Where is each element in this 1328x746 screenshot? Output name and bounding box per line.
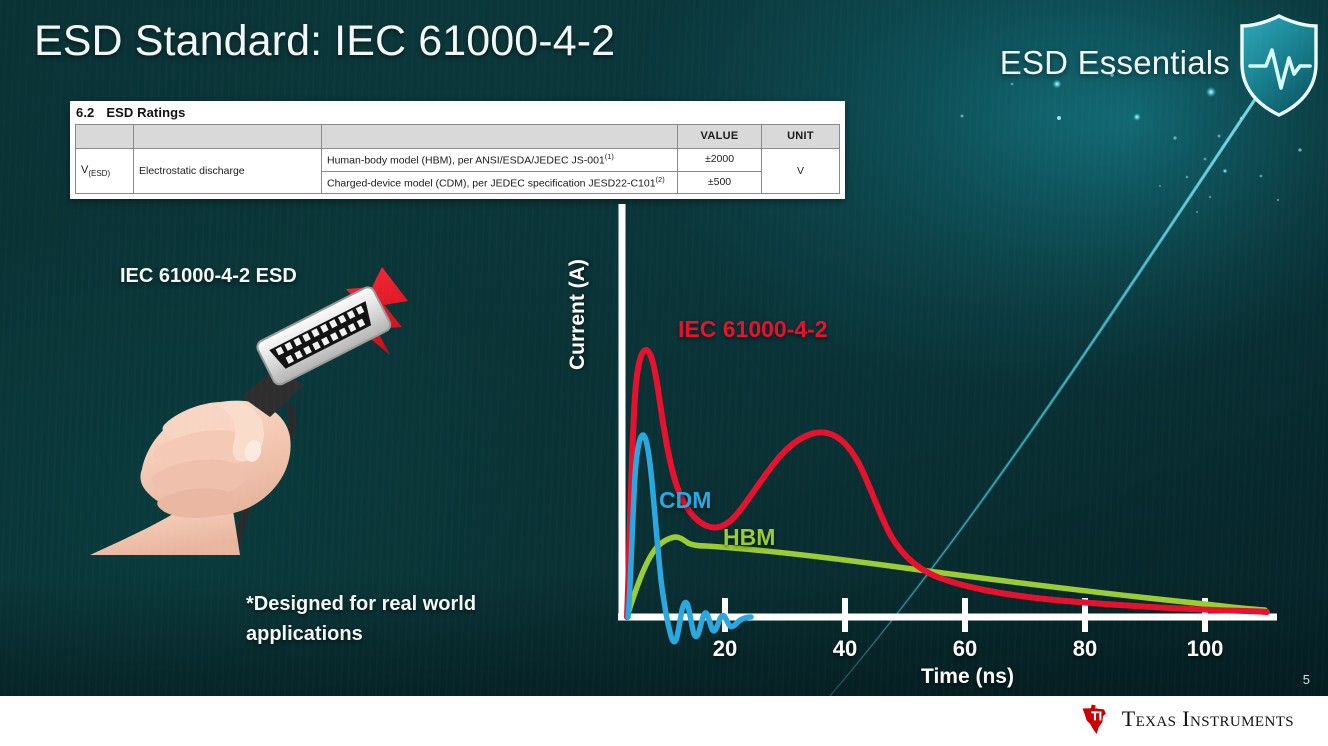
series-iec-curve (627, 350, 1267, 617)
condition-text: Charged-device model (CDM), per JEDEC sp… (327, 177, 656, 189)
texas-instruments-logo: Texas Instruments (1078, 702, 1294, 736)
page-title: ESD Standard: IEC 61000-4-2 (34, 18, 615, 65)
footnote-marker: (2) (656, 175, 665, 184)
table-caption: 6.2ESD Ratings (70, 101, 845, 124)
header-value: VALUE (678, 125, 762, 149)
header-blank-parameter (134, 125, 322, 149)
cell-symbol: V(ESD) (76, 149, 134, 194)
cell-value-hbm: ±2000 (678, 149, 762, 172)
header-blank-condition (322, 125, 678, 149)
illustration-label: IEC 61000-4-2 ESD (120, 265, 297, 288)
ratings-grid: VALUE UNIT V(ESD) Electrostatic discharg… (75, 124, 840, 194)
real-world-note: *Designed for real world applications (246, 589, 546, 649)
page-number: 5 (1303, 672, 1310, 687)
table-head: VALUE UNIT (76, 125, 840, 149)
y-axis-title: Current (A) (566, 259, 590, 370)
x-tick-label: 20 (713, 636, 737, 662)
table-body: V(ESD) Electrostatic discharge Human-bod… (76, 149, 840, 194)
brand-lockup: ESD Essentials (1000, 14, 1322, 118)
x-tick-label: 40 (833, 636, 857, 662)
texas-state-icon (1078, 702, 1112, 736)
header-unit: UNIT (762, 125, 840, 149)
shield-heartbeat-icon (1236, 14, 1322, 118)
chart-svg (565, 200, 1325, 696)
cell-unit: V (762, 149, 840, 194)
x-tick-label: 100 (1187, 636, 1224, 662)
x-axis-title: Time (ns) (921, 665, 1014, 689)
cell-parameter: Electrostatic discharge (134, 149, 322, 194)
table-row: V(ESD) Electrostatic discharge Human-bod… (76, 149, 840, 172)
x-tick-label: 80 (1073, 636, 1097, 662)
footer-bar: Texas Instruments (0, 696, 1328, 746)
series-label-iec: IEC 61000-4-2 (678, 316, 828, 343)
symbol-subscript: (ESD) (88, 169, 110, 178)
lightning-bolt-icon (342, 267, 408, 355)
table-caption-text: ESD Ratings (106, 105, 185, 120)
esd-waveform-chart: 20 40 60 80 100 (565, 200, 1325, 696)
cell-value-cdm: ±500 (678, 171, 762, 194)
cell-condition-cdm: Charged-device model (CDM), per JEDEC sp… (322, 171, 678, 194)
brand-label: ESD Essentials (1000, 44, 1230, 88)
x-tick-label: 60 (953, 636, 977, 662)
table-caption-number: 6.2 (76, 105, 94, 120)
footnote-marker: (1) (605, 152, 614, 161)
hand-connector-illustration (90, 255, 435, 575)
cell-condition-hbm: Human-body model (HBM), per ANSI/ESDA/JE… (322, 149, 678, 172)
company-name: Texas Instruments (1122, 706, 1294, 732)
series-label-cdm: CDM (659, 487, 711, 514)
header-blank-symbol (76, 125, 134, 149)
slide-canvas: ESD Standard: IEC 61000-4-2 ESD Essentia… (0, 0, 1328, 696)
series-label-hbm: HBM (723, 524, 775, 551)
table-header-row: VALUE UNIT (76, 125, 840, 149)
esd-ratings-table: 6.2ESD Ratings VALUE UNIT V(ESD) Electro… (70, 101, 845, 199)
condition-text: Human-body model (HBM), per ANSI/ESDA/JE… (327, 155, 605, 167)
hdmi-connector-icon (255, 285, 393, 387)
